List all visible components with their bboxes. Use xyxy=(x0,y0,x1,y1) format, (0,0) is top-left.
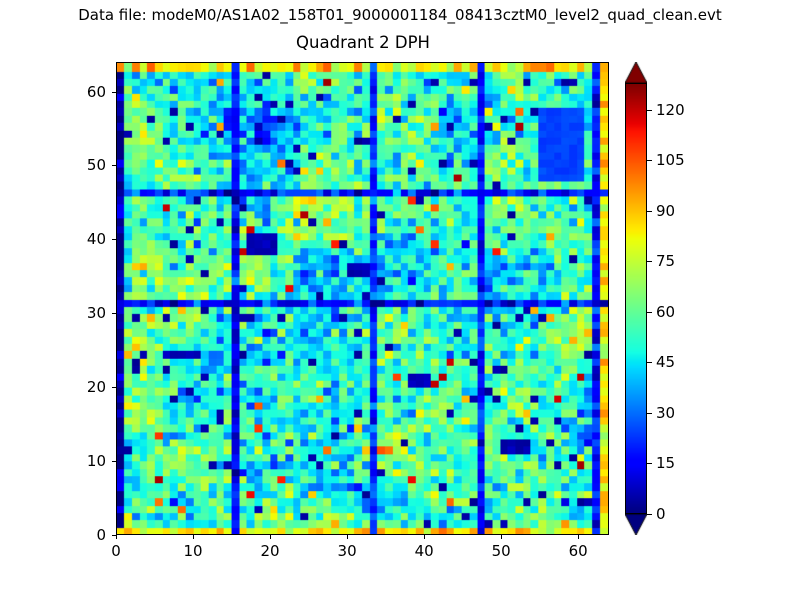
colorbar-max-arrow xyxy=(625,62,647,83)
colorbar-tick-mark xyxy=(647,413,652,414)
x-tick-label: 20 xyxy=(240,542,300,560)
colorbar-tick-mark xyxy=(647,110,652,111)
x-tick-mark xyxy=(501,535,502,539)
y-tick-mark xyxy=(112,313,116,314)
colorbar-max-arrow-shape xyxy=(625,62,647,83)
x-tick-mark xyxy=(270,535,271,539)
x-tick-mark xyxy=(193,535,194,539)
colorbar-tick-mark xyxy=(647,160,652,161)
y-tick-mark xyxy=(112,387,116,388)
y-tick-label: 50 xyxy=(54,156,106,174)
chart-title: Quadrant 2 DPH xyxy=(116,33,610,52)
colorbar-gradient xyxy=(626,84,646,513)
colorbar-tick-label: 0 xyxy=(656,505,666,523)
y-tick-label: 30 xyxy=(54,304,106,322)
colorbar-tick-label: 90 xyxy=(656,202,675,220)
x-tick-mark xyxy=(347,535,348,539)
colorbar-tick-label: 105 xyxy=(656,151,685,169)
x-tick-mark xyxy=(424,535,425,539)
y-tick-label: 10 xyxy=(54,452,106,470)
x-tick-label: 0 xyxy=(86,542,146,560)
y-tick-mark xyxy=(112,535,116,536)
colorbar-tick-mark xyxy=(647,362,652,363)
y-tick-label: 40 xyxy=(54,230,106,248)
colorbar[interactable] xyxy=(625,83,647,514)
colorbar-tick-mark xyxy=(647,463,652,464)
x-tick-label: 50 xyxy=(471,542,531,560)
colorbar-tick-mark xyxy=(647,261,652,262)
colorbar-tick-label: 15 xyxy=(656,454,675,472)
colorbar-tick-label: 60 xyxy=(656,303,675,321)
colorbar-tick-mark xyxy=(647,312,652,313)
x-tick-label: 40 xyxy=(394,542,454,560)
x-tick-mark xyxy=(116,535,117,539)
y-tick-label: 0 xyxy=(54,526,106,544)
colorbar-min-arrow-shape xyxy=(625,514,647,535)
colorbar-tick-mark xyxy=(647,514,652,515)
colorbar-tick-label: 30 xyxy=(656,404,675,422)
x-tick-label: 60 xyxy=(548,542,608,560)
colorbar-tick-mark xyxy=(647,211,652,212)
x-tick-label: 10 xyxy=(163,542,223,560)
y-tick-mark xyxy=(112,461,116,462)
y-tick-mark xyxy=(112,239,116,240)
x-tick-label: 30 xyxy=(317,542,377,560)
heatmap-plot-area[interactable] xyxy=(116,62,609,535)
figure-canvas: Data file: modeM0/AS1A02_158T01_90000011… xyxy=(0,0,800,600)
colorbar-tick-label: 75 xyxy=(656,252,675,270)
colorbar-tick-label: 45 xyxy=(656,353,675,371)
data-file-label: Data file: modeM0/AS1A02_158T01_90000011… xyxy=(0,6,800,24)
colorbar-tick-label: 120 xyxy=(656,101,685,119)
y-tick-mark xyxy=(112,92,116,93)
heatmap-image xyxy=(117,63,608,534)
x-tick-mark xyxy=(578,535,579,539)
y-tick-label: 20 xyxy=(54,378,106,396)
y-tick-label: 60 xyxy=(54,83,106,101)
y-tick-mark xyxy=(112,165,116,166)
colorbar-min-arrow xyxy=(625,514,647,535)
